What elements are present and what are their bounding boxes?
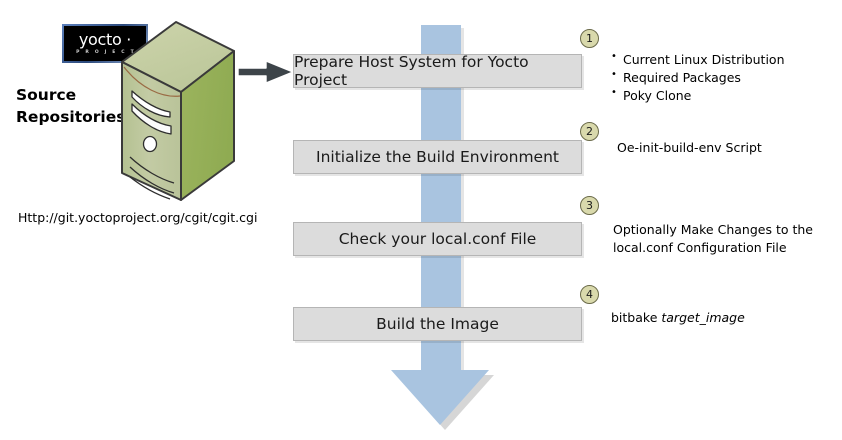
list-item: Required Packages [611,69,785,87]
process-box-step-1-label: Prepare Host System for Yocto Project [294,53,581,89]
step-4-notes: bitbake target_image [611,309,745,327]
process-box-step-4-label: Build the Image [376,315,499,333]
step-number-4: 4 [586,289,593,300]
process-box-step-4[interactable]: Build the Image [293,307,582,341]
step-3-note-line-2: local.conf Configuration File [613,239,813,257]
right-arrow-icon [238,60,294,84]
step-3-notes: Optionally Make Changes to the local.con… [613,221,813,257]
step-4-command-name: bitbake [611,310,661,325]
list-item: Poky Clone [611,87,785,105]
step-4-command-arg: target_image [661,310,744,325]
step-number-3: 3 [586,200,593,211]
step-number-circle-2: 2 [580,122,599,141]
list-item: Current Linux Distribution [611,51,785,69]
source-repositories-url: Http://git.yoctoproject.org/cgit/cgit.cg… [18,210,257,225]
process-box-step-3[interactable]: Check your local.conf File [293,222,582,256]
step-2-note-line-1: Oe-init-build-env Script [617,139,762,157]
step-1-note-list: Current Linux Distribution Required Pack… [611,51,785,104]
step-3-note-line-1: Optionally Make Changes to the [613,221,813,239]
step-number-circle-3: 3 [580,196,599,215]
step-number-2: 2 [586,126,593,137]
step-number-circle-1: 1 [580,29,599,48]
step-number-1: 1 [586,33,593,44]
server-tower-icon [118,18,238,212]
step-1-notes: Current Linux Distribution Required Pack… [611,51,785,104]
step-4-note-line-1: bitbake target_image [611,309,745,327]
step-number-circle-4: 4 [580,285,599,304]
process-box-step-2-label: Initialize the Build Environment [316,148,559,166]
process-box-step-2[interactable]: Initialize the Build Environment [293,140,582,174]
process-box-step-1[interactable]: Prepare Host System for Yocto Project [293,54,582,88]
step-2-notes: Oe-init-build-env Script [617,139,762,157]
process-box-step-3-label: Check your local.conf File [339,230,537,248]
